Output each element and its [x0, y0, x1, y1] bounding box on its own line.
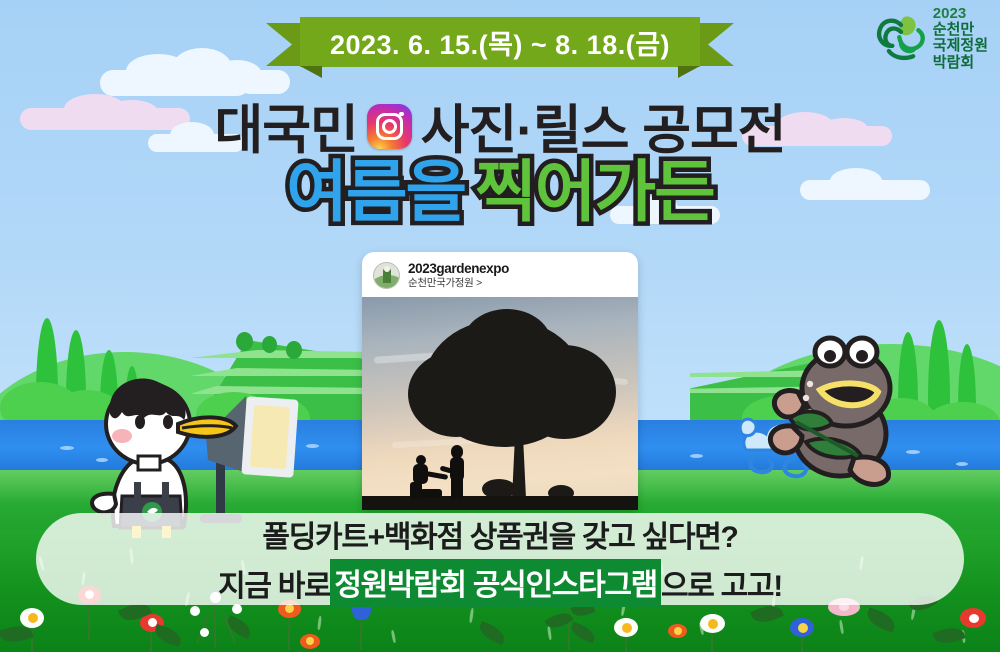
held-leaf-1: [790, 411, 832, 429]
tree-canopy: [462, 309, 552, 381]
kneeling-man-silhouette: [410, 455, 446, 499]
gardenexpo-logo: 2023 순천만 국제정원 박람회: [875, 6, 988, 71]
instagram-username[interactable]: 2023gardenexpo: [408, 261, 509, 277]
cta-line-2: 지금 바로 정원박람회 공식인스타그램으로 고고!: [218, 559, 782, 607]
mudskipper-tail: [850, 457, 889, 484]
instagram-icon: [367, 104, 412, 149]
logo-line-3: 박람회: [933, 55, 988, 71]
duck-eye-left: [135, 415, 145, 429]
instagram-post-photo: [362, 297, 638, 510]
duck-eye-right: [163, 415, 173, 429]
duck-tail: [92, 494, 116, 513]
instagram-post-card[interactable]: 2023gardenexpo 순천만국가정원 >: [362, 252, 638, 510]
mudskipper-character: [736, 330, 946, 500]
standing-woman-silhouette: [446, 445, 470, 499]
cta-highlight-instagram[interactable]: 정원박람회 공식인스타그램: [330, 559, 661, 607]
title-part-2: 사진·릴스 공모전: [421, 88, 786, 164]
ridge-tree-3: [286, 341, 302, 359]
ridge-tree-1: [236, 332, 253, 351]
cta-line-2-prefix: 지금 바로: [218, 561, 330, 605]
instagram-location[interactable]: 순천만국가정원 >: [408, 277, 509, 290]
date-ribbon-banner: 2023. 6. 15.(목) ~ 8. 18.(금): [300, 17, 700, 72]
subtitle-word-1: 여름을: [286, 158, 465, 228]
green-swirl-leaf-mark: [875, 10, 927, 66]
bottom-cta-banner: 폴딩카트+백화점 상품권을 갖고 싶다면? 지금 바로 정원박람회 공식인스타그…: [36, 513, 964, 605]
overall-strap-left: [134, 482, 141, 500]
photo-ground-silhouette: [362, 496, 638, 510]
logo-text-block: 2023 순천만 국제정원 박람회: [933, 6, 988, 71]
river-sparkle: [60, 446, 74, 450]
logo-line-2: 국제정원: [933, 38, 988, 54]
instagram-account-names: 2023gardenexpo 순천만국가정원 >: [408, 261, 509, 290]
event-period-text: 2023. 6. 15.(목) ~ 8. 18.(금): [330, 23, 670, 62]
water-swirl-1: [750, 456, 772, 472]
softbox-diffuser: [250, 405, 290, 469]
mudskipper-pupil-left: [824, 350, 836, 362]
mudskipper-fin-lower: [770, 426, 802, 453]
duck-neck: [138, 456, 160, 470]
ridge-tree-2: [262, 336, 277, 353]
subtitle-word-2: 찍어가든: [475, 158, 714, 228]
instagram-post-header: 2023gardenexpo 순천만국가정원 >: [362, 252, 638, 297]
poster-root: 2023. 6. 15.(목) ~ 8. 18.(금) 2023 순천만 국제정…: [0, 0, 1000, 652]
mudskipper-spot: [803, 395, 809, 401]
ribbon-body: 2023. 6. 15.(목) ~ 8. 18.(금): [300, 17, 700, 67]
logo-year: 2023: [933, 6, 988, 22]
title-part-1: 대국민: [215, 88, 358, 164]
river-sparkle: [956, 462, 968, 466]
mudskipper-spot: [807, 381, 813, 387]
logo-line-1: 순천만: [933, 22, 988, 38]
main-title-row: 대국민 사진·릴스 공모전: [0, 88, 1000, 164]
cta-line-2-suffix: 으로 고고!: [661, 561, 782, 605]
water-drop: [740, 419, 756, 436]
gardenexpo-profile-avatar[interactable]: [373, 262, 400, 289]
overall-strap-right: [162, 482, 169, 500]
cta-line-1: 폴딩카트+백화점 상품권을 갖고 싶다면?: [262, 512, 737, 556]
river-sparkle: [690, 454, 703, 458]
mudskipper-pupil-right: [856, 350, 868, 362]
stylized-subtitle: 여름을 찍어가든: [0, 158, 1000, 228]
duck-cheek: [112, 429, 132, 443]
branch-right: [540, 600, 600, 650]
